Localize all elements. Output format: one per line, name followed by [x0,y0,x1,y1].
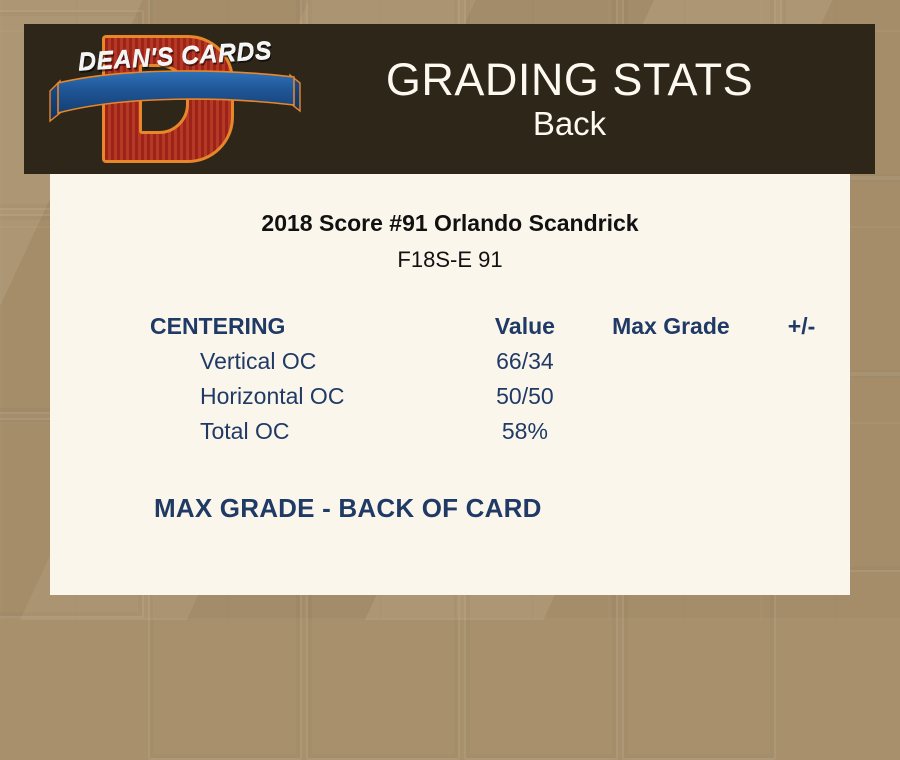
row-value: 50/50 [461,379,589,414]
row-label: Total OC [50,414,461,449]
column-header-plus-minus: +/- [753,309,850,344]
row-plus-minus [753,414,850,449]
card-code: F18S-E 91 [50,247,850,273]
table-header-row: CENTERING Value Max Grade +/- [50,309,850,344]
page-title: GRADING STATS [304,56,835,103]
app-header: DEAN'S CARDS GRADING STATS Back [24,24,875,174]
header-title-block: GRADING STATS Back [304,56,875,142]
row-max-grade [589,344,753,379]
table-row: Vertical OC 66/34 [50,344,850,379]
table-row: Total OC 58% [50,414,850,449]
row-plus-minus [753,379,850,414]
column-header-centering: CENTERING [50,309,461,344]
max-grade-section-heading: MAX GRADE - BACK OF CARD [154,493,850,524]
row-max-grade [589,414,753,449]
row-label: Vertical OC [50,344,461,379]
row-label: Horizontal OC [50,379,461,414]
card-title: 2018 Score #91 Orlando Scandrick [50,210,850,237]
stats-panel: 2018 Score #91 Orlando Scandrick F18S-E … [50,174,850,595]
deans-cards-logo[interactable]: DEAN'S CARDS [46,29,304,169]
grading-stats-table: CENTERING Value Max Grade +/- Vertical O… [50,309,850,449]
page-subtitle: Back [304,107,835,142]
row-plus-minus [753,344,850,379]
column-header-max-grade: Max Grade [589,309,753,344]
table-row: Horizontal OC 50/50 [50,379,850,414]
row-value: 66/34 [461,344,589,379]
row-max-grade [589,379,753,414]
row-value: 58% [461,414,589,449]
column-header-value: Value [461,309,589,344]
